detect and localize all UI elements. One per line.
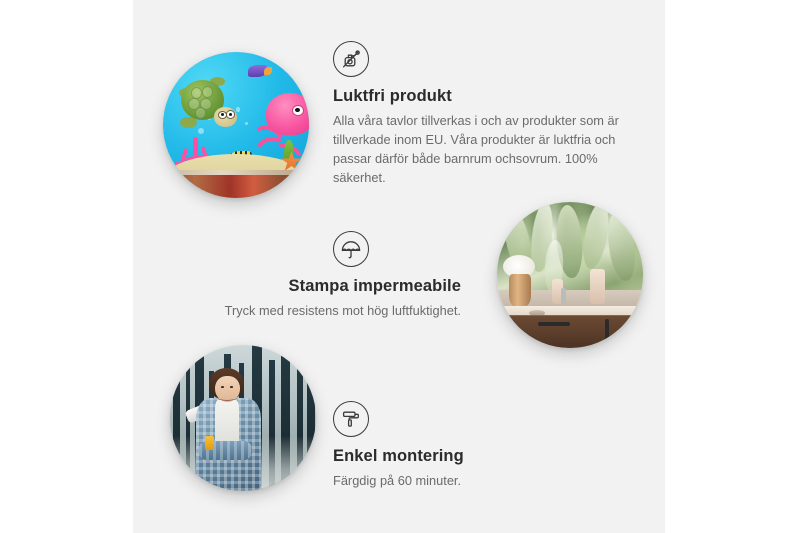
towel-roll <box>590 269 605 304</box>
no-fragrance-icon <box>333 41 369 77</box>
feature-title: Stampa impermeabile <box>161 277 461 297</box>
drawer-handle <box>538 322 570 326</box>
sea-turtle-icon <box>178 80 236 130</box>
bathroom-vanity-leaf-wallpaper <box>497 202 643 348</box>
promo-banner: Luktfri produkt Alla våra tavlor tillver… <box>0 0 800 533</box>
paint-roller-icon <box>333 401 369 437</box>
vase <box>509 274 531 308</box>
feature-description: Färgdig på 60 minuter. <box>333 472 633 491</box>
octopus-icon <box>251 93 309 160</box>
feature-description: Alla våra tavlor tillverkas i och av pro… <box>333 112 633 188</box>
woman-painter-forest-wallpaper <box>170 345 316 491</box>
underwater-cartoon-scene <box>163 52 309 198</box>
feature-description: Tryck med resistens mot hög luftfuktighe… <box>161 302 461 321</box>
faucet <box>561 288 565 304</box>
cabinet-handle <box>605 319 609 345</box>
bookshelf-strip <box>163 175 309 198</box>
feature-title: Luktfri produkt <box>333 87 633 107</box>
feature-odourless: Luktfri produkt Alla våra tavlor tillver… <box>333 41 633 188</box>
feature-title: Enkel montering <box>333 447 633 467</box>
yellow-tool <box>205 436 214 451</box>
umbrella-icon <box>333 231 369 267</box>
vanity-cabinet <box>509 316 643 348</box>
feature-waterproof: Stampa impermeabile Tryck med resistens … <box>161 231 461 321</box>
feature-assembly: Enkel montering Färgdig på 60 minuter. <box>333 401 633 491</box>
